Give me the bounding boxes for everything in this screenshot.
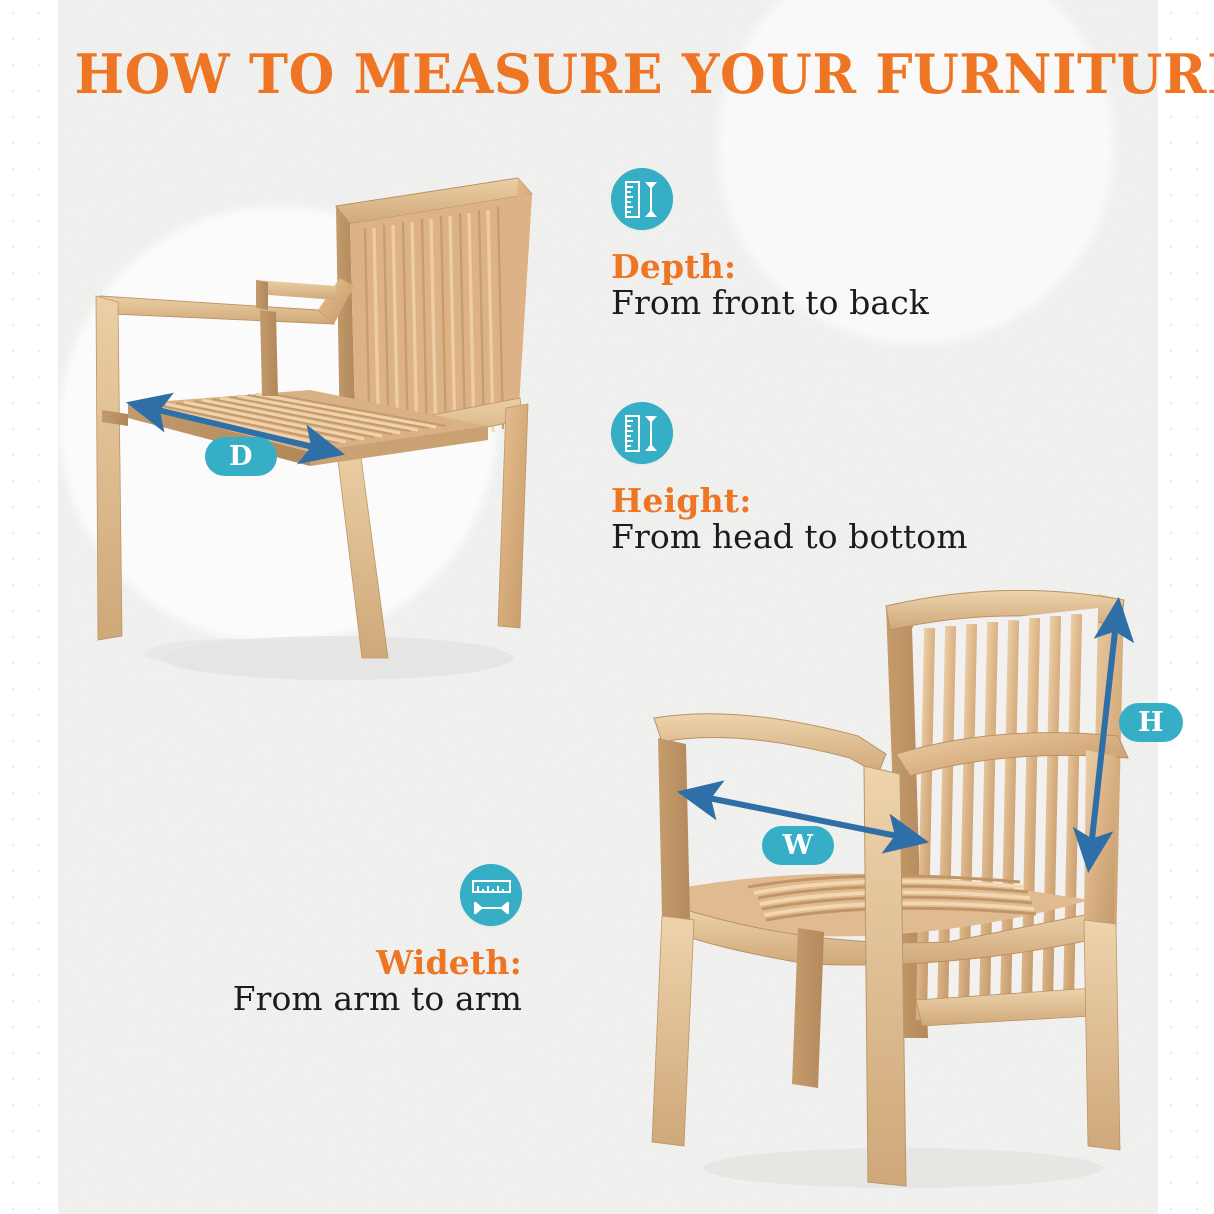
vertical-ruler-arrow-icon [611, 402, 673, 464]
info-block-height: Height: From head to bottom [611, 402, 968, 555]
right-dotted-margin [1158, 0, 1214, 1214]
height-label-badge: H [1119, 703, 1183, 742]
depth-label-badge: D [205, 437, 277, 476]
info-desc-depth: From front to back [611, 285, 929, 321]
chair-illustration-rear [88, 158, 538, 688]
info-term-height: Height: [611, 484, 968, 519]
page-title: HOW TO MEASURE YOUR FURNITURE [75, 47, 1142, 101]
width-label-badge: W [762, 826, 834, 865]
chair-illustration-front [628, 568, 1158, 1198]
horizontal-ruler-arrow-icon [460, 864, 522, 926]
info-block-depth: Depth: From front to back [611, 168, 929, 321]
info-term-width: Wideth: [192, 946, 522, 981]
left-dotted-margin [0, 0, 58, 1214]
info-desc-width: From arm to arm [192, 981, 522, 1017]
infographic-canvas: HOW TO MEASURE YOUR FURNITURE [0, 0, 1214, 1214]
vertical-ruler-arrow-icon [611, 168, 673, 230]
info-term-depth: Depth: [611, 250, 929, 285]
info-block-width: Wideth: From arm to arm [192, 864, 522, 1017]
info-desc-height: From head to bottom [611, 519, 968, 555]
